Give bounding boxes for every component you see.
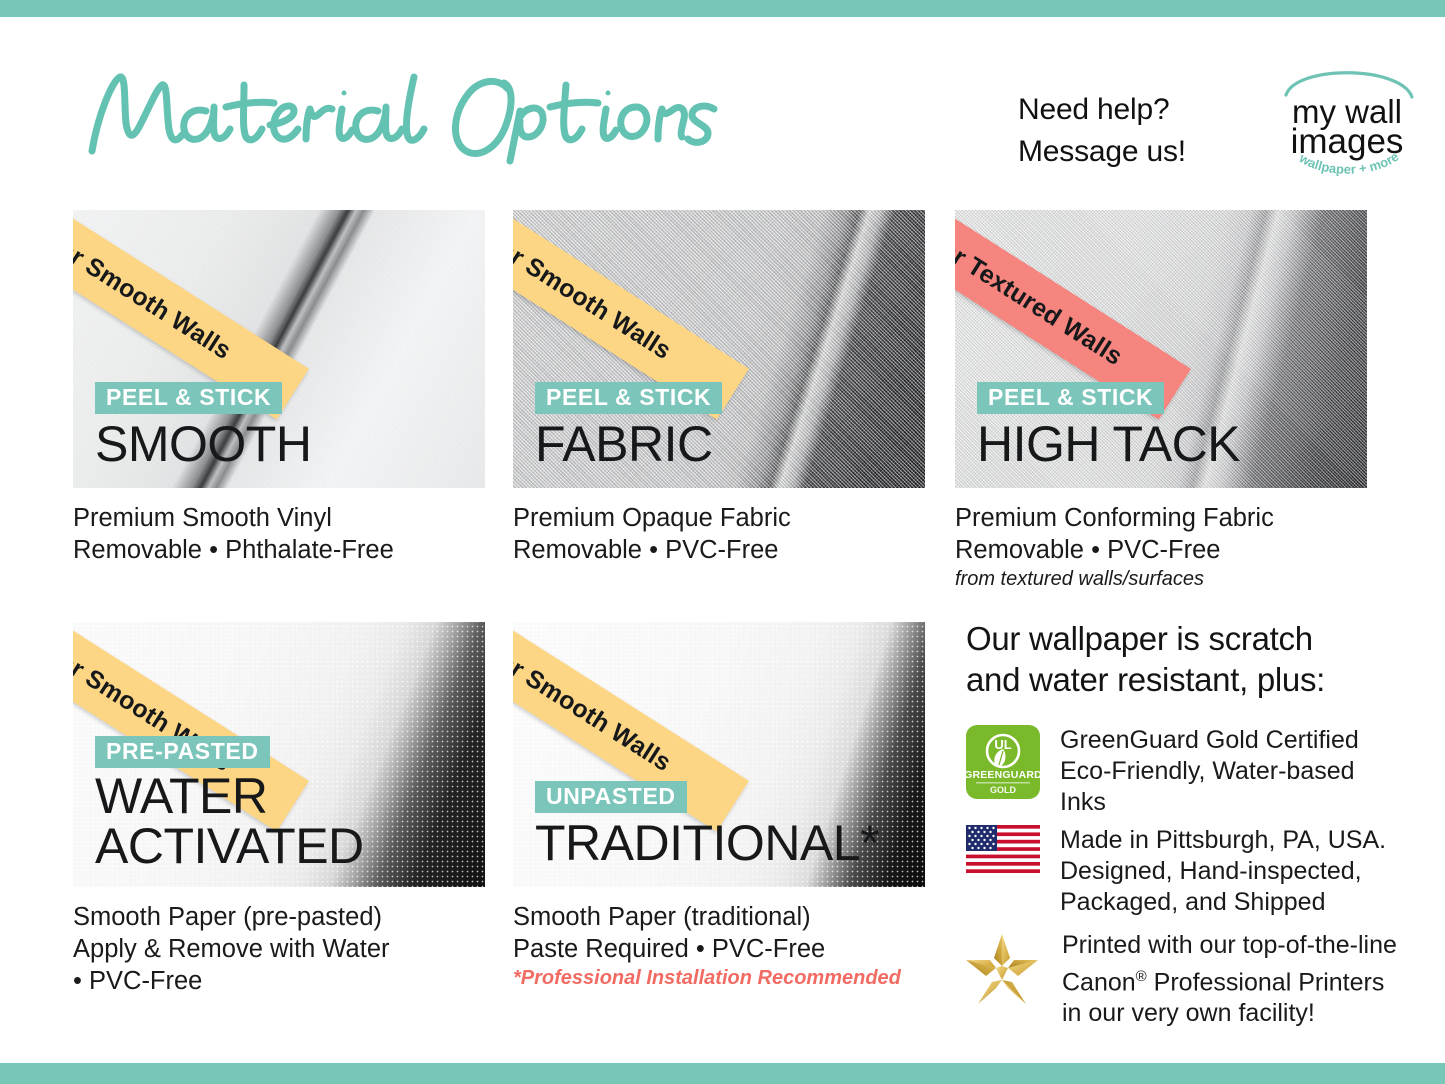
svg-text:GOLD: GOLD — [990, 785, 1016, 795]
promo-headline: Our wallpaper is scratch and water resis… — [966, 618, 1396, 700]
caption-line-1: Smooth Paper (traditional) — [513, 901, 925, 933]
card-label-block: UNPASTED TRADITIONAL* — [535, 781, 879, 871]
status-badge: PRE-PASTED — [95, 736, 270, 768]
card-title: FABRIC — [535, 417, 722, 472]
caption-line-2: Removable • PVC-Free — [513, 534, 925, 566]
caption-line-1: Premium Conforming Fabric — [955, 502, 1367, 534]
gold-star-icon — [962, 930, 1042, 1013]
card-title-line1: WATER — [95, 771, 364, 821]
page-title — [74, 55, 714, 165]
card-image: for Smooth Walls PEEL & STICK SMOOTH — [73, 210, 485, 488]
need-help-line2: Message us! — [1018, 131, 1186, 173]
status-badge: PEEL & STICK — [95, 382, 282, 414]
need-help-line1: Need help? — [1018, 89, 1186, 131]
caption-line-1: Smooth Paper (pre-pasted) — [73, 901, 485, 933]
feature-line-3: Packaged, and Shipped — [1060, 887, 1386, 918]
svg-text:GREENGUARD: GREENGUARD — [966, 769, 1040, 781]
feature-line-1: GreenGuard Gold Certified — [1060, 725, 1406, 756]
status-badge: PEEL & STICK — [535, 382, 722, 414]
promo-headline-line2: and water resistant, plus: — [966, 659, 1396, 700]
card-image: for Smooth Walls PEEL & STICK FABRIC — [513, 210, 925, 488]
status-badge: PEEL & STICK — [977, 382, 1164, 414]
caption-line-1: Premium Opaque Fabric — [513, 502, 925, 534]
need-help-text: Need help? Message us! — [1018, 89, 1186, 173]
card-title-line2: ACTIVATED — [95, 821, 364, 871]
feature-made-in-usa: Made in Pittsburgh, PA, USA. Designed, H… — [966, 825, 1406, 918]
page-header: Need help? Message us! my wall images wa… — [0, 17, 1445, 200]
material-card-traditional[interactable]: for Smooth Walls UNPASTED TRADITIONAL* S… — [513, 622, 925, 991]
card-caption: Premium Smooth Vinyl Removable • Phthala… — [73, 502, 485, 566]
card-title: WATER ACTIVATED — [95, 771, 364, 871]
feature-line-2: Eco-Friendly, Water-based Inks — [1060, 756, 1406, 818]
feature-line-2-rest: Professional Printers — [1147, 968, 1385, 996]
registered-mark-icon: ® — [1136, 968, 1147, 985]
card-title: SMOOTH — [95, 417, 311, 472]
brand-logo[interactable]: my wall images wallpaper + more — [1272, 55, 1422, 183]
status-badge: UNPASTED — [535, 781, 687, 813]
card-image: for Textured Walls PEEL & STICK HIGH TAC… — [955, 210, 1367, 488]
card-image: for Smooth Walls UNPASTED TRADITIONAL* — [513, 622, 925, 887]
card-title: TRADITIONAL* — [535, 816, 879, 871]
feature-made-in-usa-text: Made in Pittsburgh, PA, USA. Designed, H… — [1060, 825, 1386, 918]
card-caption: Premium Conforming Fabric Removable • PV… — [955, 502, 1367, 592]
material-card-smooth[interactable]: for Smooth Walls PEEL & STICK SMOOTH Pre… — [73, 210, 485, 566]
feature-line-2: Canon® Professional Printers — [1062, 961, 1397, 998]
greenguard-gold-badge-icon: UL GREENGUARD GOLD — [966, 725, 1040, 804]
bottom-accent-bar — [0, 1063, 1445, 1084]
caption-line-2: Paste Required • PVC-Free — [513, 933, 925, 965]
feature-line-2: Designed, Hand-inspected, — [1060, 856, 1386, 887]
feature-line-1: Printed with our top-of-the-line — [1062, 930, 1397, 961]
promo-headline-line1: Our wallpaper is scratch — [966, 618, 1396, 659]
feature-canon-printers: Printed with our top-of-the-line Canon® … — [962, 930, 1412, 1029]
feature-line-3: in our very own facility! — [1062, 998, 1397, 1029]
caption-line-2: Apply & Remove with Water — [73, 933, 485, 965]
caption-note: from textured walls/surfaces — [955, 566, 1367, 592]
card-label-block: PEEL & STICK SMOOTH — [95, 382, 311, 472]
top-accent-bar — [0, 0, 1445, 17]
feature-greenguard-text: GreenGuard Gold Certified Eco-Friendly, … — [1060, 725, 1406, 818]
card-title: HIGH TACK — [977, 417, 1240, 472]
caption-line-3: • PVC-Free — [73, 965, 485, 997]
card-image: for Smooth Walls PRE-PASTED WATER ACTIVA… — [73, 622, 485, 887]
feature-line-1: Made in Pittsburgh, PA, USA. — [1060, 825, 1386, 856]
canon-brand: Canon — [1062, 968, 1136, 996]
card-caption: Smooth Paper (pre-pasted) Apply & Remove… — [73, 901, 485, 997]
caption-line-1: Premium Smooth Vinyl — [73, 502, 485, 534]
caption-note-red: *Professional Installation Recommended — [513, 965, 925, 991]
material-card-water-activated[interactable]: for Smooth Walls PRE-PASTED WATER ACTIVA… — [73, 622, 485, 997]
card-label-block: PRE-PASTED WATER ACTIVATED — [95, 736, 364, 871]
caption-line-2: Removable • Phthalate-Free — [73, 534, 485, 566]
caption-line-2: Removable • PVC-Free — [955, 534, 1367, 566]
feature-greenguard: UL GREENGUARD GOLD GreenGuard Gold Certi… — [966, 725, 1406, 818]
material-card-fabric[interactable]: for Smooth Walls PEEL & STICK FABRIC Pre… — [513, 210, 925, 566]
usa-flag-icon — [966, 825, 1040, 878]
card-caption: Premium Opaque Fabric Removable • PVC-Fr… — [513, 502, 925, 566]
feature-canon-printers-text: Printed with our top-of-the-line Canon® … — [1062, 930, 1397, 1029]
card-label-block: PEEL & STICK FABRIC — [535, 382, 722, 472]
card-caption: Smooth Paper (traditional) Paste Require… — [513, 901, 925, 991]
material-card-high-tack[interactable]: for Textured Walls PEEL & STICK HIGH TAC… — [955, 210, 1367, 592]
card-label-block: PEEL & STICK HIGH TACK — [977, 382, 1240, 472]
